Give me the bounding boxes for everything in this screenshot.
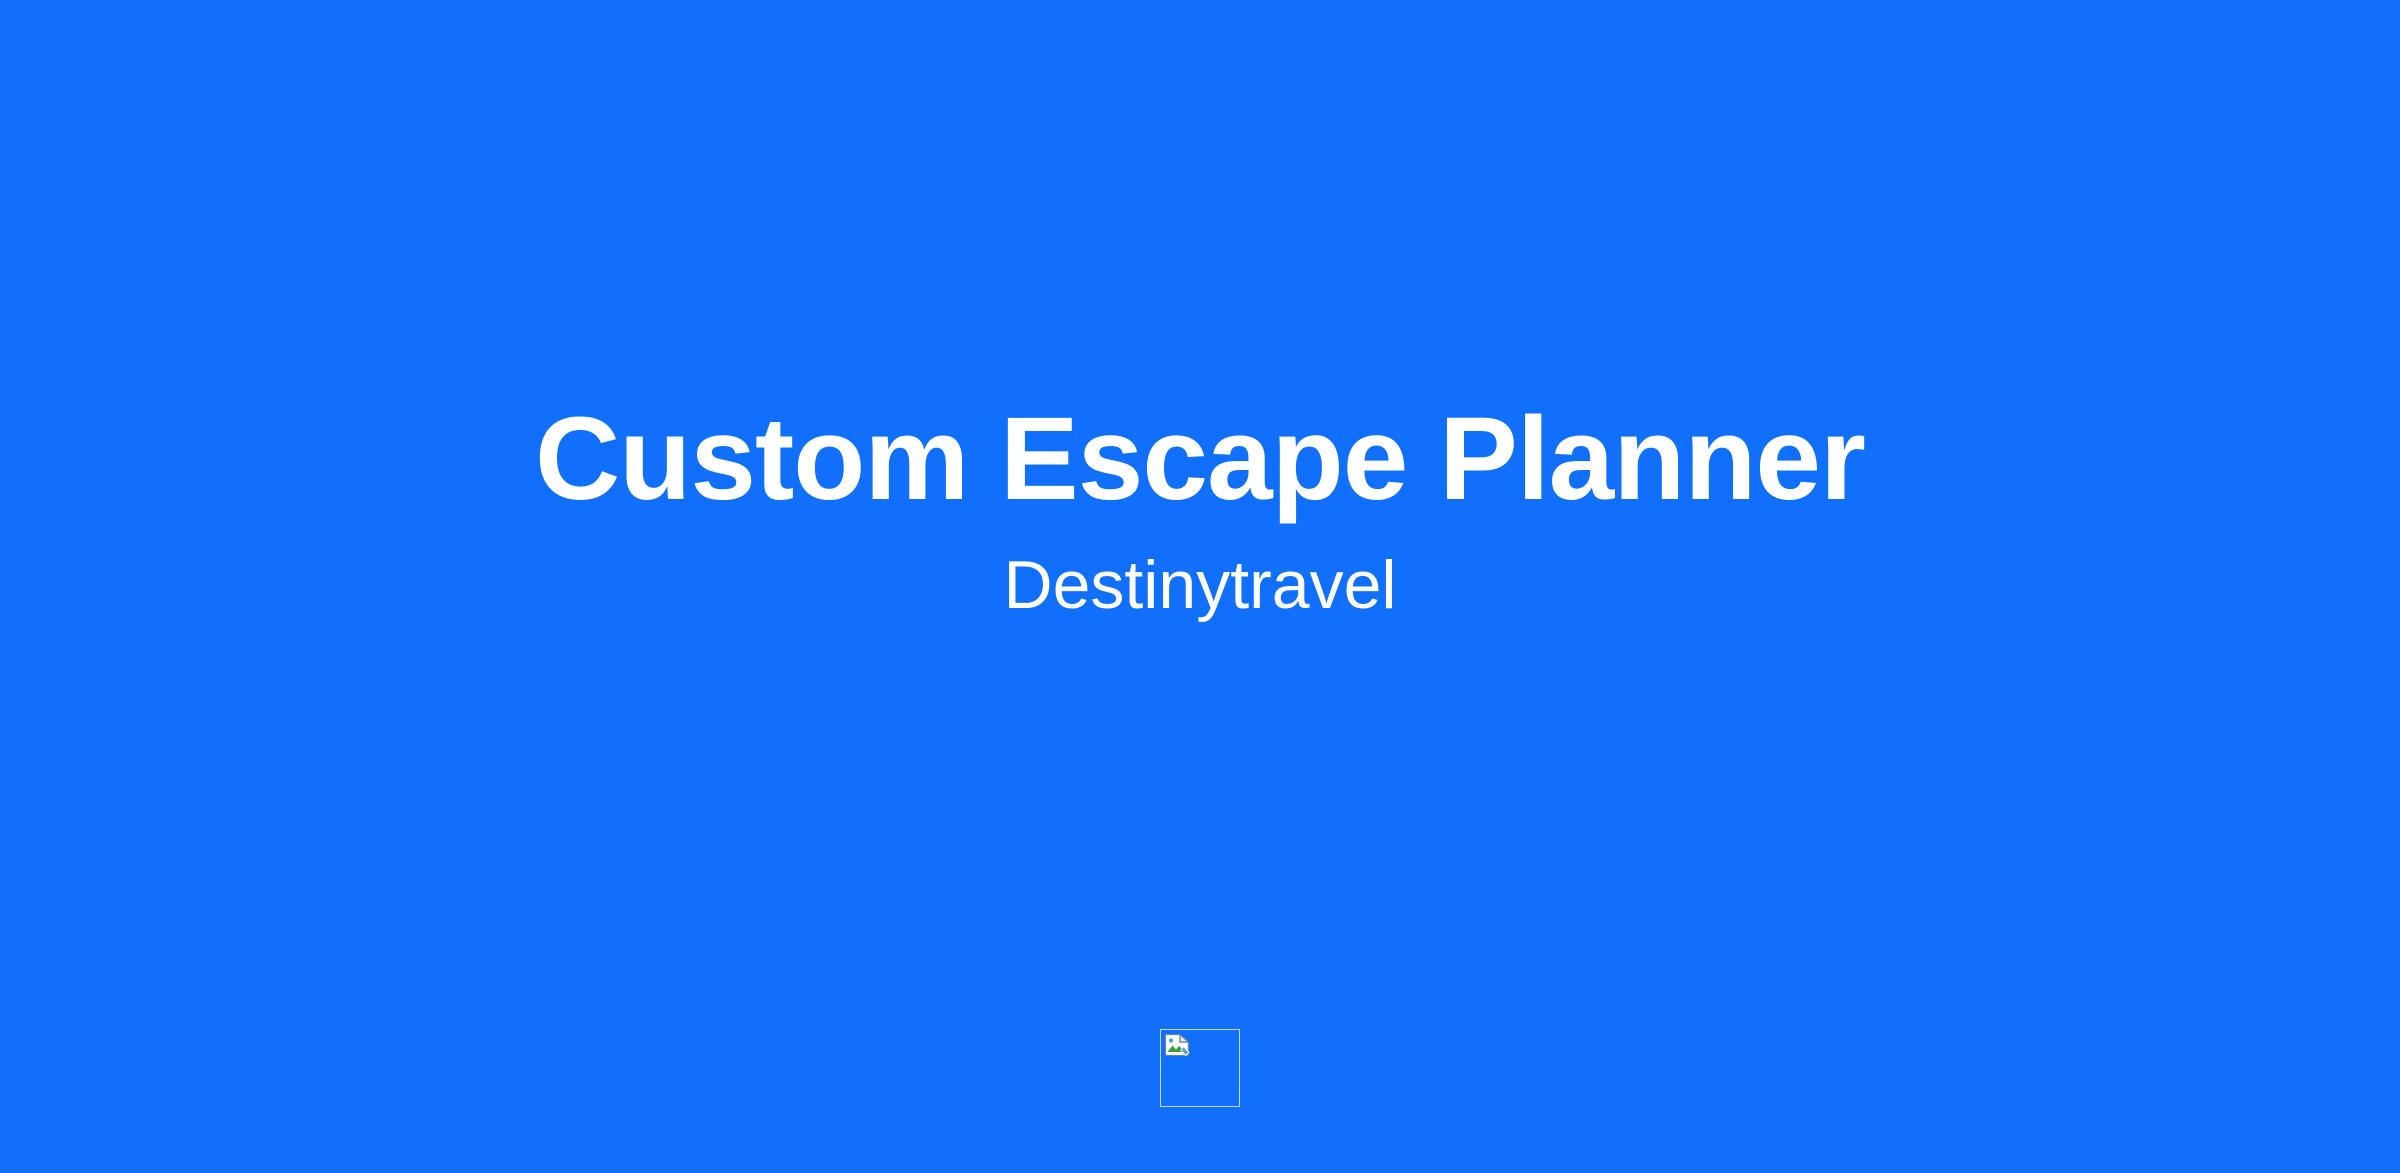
page-title: Custom Escape Planner (535, 398, 1865, 522)
broken-image-icon (1164, 1033, 1190, 1057)
page-subtitle: Destinytravel (1003, 548, 1396, 623)
broken-image-placeholder[interactable] (1160, 1029, 1240, 1107)
title-slide: Custom Escape Planner Destinytravel (0, 0, 2400, 1173)
hero-text-block: Custom Escape Planner Destinytravel (0, 0, 2400, 1173)
